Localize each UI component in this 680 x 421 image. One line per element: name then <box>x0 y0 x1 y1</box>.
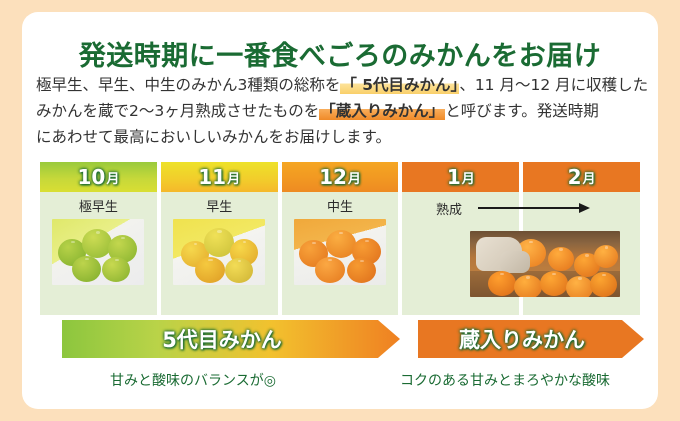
orange-mandarins-photo <box>294 219 386 285</box>
month-number: 10 <box>77 165 105 189</box>
variety-label-nakate: 中生 <box>282 199 399 216</box>
shipping-calendar-chart: 10月 極早生 11月 <box>40 162 640 357</box>
green-mandarins-photo <box>52 219 144 285</box>
footer-captions: 甘みと酸味のバランスが◎ コクのある甘みとまろやかな酸味 <box>40 370 644 392</box>
banner-kurairi-mikan: 蔵入りみかん <box>418 320 644 358</box>
month-suffix: 月 <box>462 168 475 187</box>
aging-crate-photo <box>470 231 620 297</box>
month-number: 2 <box>568 165 582 189</box>
month-bar-february: 2月 <box>523 162 640 192</box>
content-card: 発送時期に一番食べごろのみかんをお届け 極早生、早生、中生のみかん3種類の総称を… <box>22 12 658 409</box>
description-text: と呼びます。発送時期 <box>445 102 598 120</box>
month-number: 11 <box>198 165 226 189</box>
month-suffix: 月 <box>106 168 119 187</box>
month-bar-october: 10月 <box>40 162 157 192</box>
month-column-november: 11月 早生 <box>161 162 278 315</box>
month-column-december: 12月 中生 <box>282 162 399 315</box>
description-text: みかんを蔵で2〜3ヶ月熟成させたものを <box>36 102 319 120</box>
month-column-october: 10月 極早生 <box>40 162 157 315</box>
description-text: 極早生、早生、中生のみかん3種類の総称を <box>36 76 340 94</box>
variety-label-wase: 早生 <box>161 199 278 216</box>
variety-label-gokuwase: 極早生 <box>40 199 157 216</box>
month-bar-january: 1月 <box>402 162 519 192</box>
infographic-page: 発送時期に一番食べごろのみかんをお届け 極早生、早生、中生のみかん3種類の総称を… <box>0 0 680 421</box>
page-title: 発送時期に一番食べごろのみかんをお届け <box>22 34 658 73</box>
month-number: 1 <box>447 165 461 189</box>
term-kurairi-mikan: 「蔵入りみかん」 <box>319 102 445 120</box>
caption-kurairi: コクのある甘みとまろやかな酸味 <box>400 370 610 390</box>
group-banners: 5代目みかん 蔵入りみかん <box>40 320 644 358</box>
description-text: 、11 月〜12 月に収穫した <box>459 76 648 94</box>
description-line-3: にあわせて最高においしいみかんをお届けします。 <box>36 124 648 150</box>
month-suffix: 月 <box>583 168 596 187</box>
month-suffix: 月 <box>227 168 240 187</box>
description-paragraph: 極早生、早生、中生のみかん3種類の総称を「 5代目みかん」、11 月〜12 月に… <box>36 72 648 150</box>
term-godaime-mikan: 「 5代目みかん」 <box>340 76 459 94</box>
caption-godaime: 甘みと酸味のバランスが◎ <box>110 370 276 390</box>
banner-godaime-mikan: 5代目みかん <box>62 320 400 358</box>
month-bar-november: 11月 <box>161 162 278 192</box>
month-bar-december: 12月 <box>282 162 399 192</box>
month-number: 12 <box>319 165 347 189</box>
month-suffix: 月 <box>348 168 361 187</box>
description-line-2: みかんを蔵で2〜3ヶ月熟成させたものを「蔵入りみかん」と呼びます。発送時期 <box>36 98 648 124</box>
yellow-mandarins-photo <box>173 219 265 285</box>
description-line-1: 極早生、早生、中生のみかん3種類の総称を「 5代目みかん」、11 月〜12 月に… <box>36 72 648 98</box>
